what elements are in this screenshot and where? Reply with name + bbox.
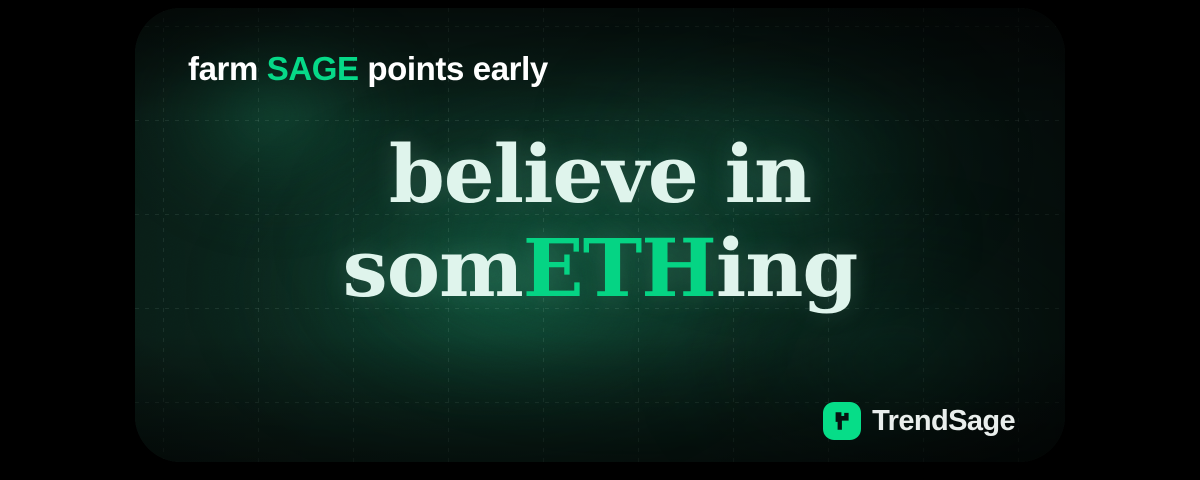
headline-line-2: somETHing <box>135 222 1065 316</box>
headline: believe in somETHing <box>135 128 1065 315</box>
promo-card: farm SAGE points early believe in somETH… <box>135 8 1065 462</box>
headline-accent-eth: ETH <box>523 221 716 315</box>
trendsage-logo-mark-icon <box>823 402 861 440</box>
trendsage-wordmark: TrendSage <box>872 407 1015 436</box>
brand-lockup[interactable]: TrendSage <box>823 402 1015 440</box>
headline-line-1: believe in <box>135 128 1065 222</box>
card-content: farm SAGE points early believe in somETH… <box>135 8 1065 462</box>
eyebrow-text-after: points early <box>359 50 548 87</box>
headline-line2-after: ing <box>716 221 858 315</box>
eyebrow-text-before: farm <box>188 50 267 87</box>
poster-canvas: farm SAGE points early believe in somETH… <box>0 0 1200 480</box>
eyebrow-tagline: farm SAGE points early <box>188 52 548 85</box>
eyebrow-accent-sage: SAGE <box>267 50 359 87</box>
headline-line2-before: som <box>343 221 523 315</box>
